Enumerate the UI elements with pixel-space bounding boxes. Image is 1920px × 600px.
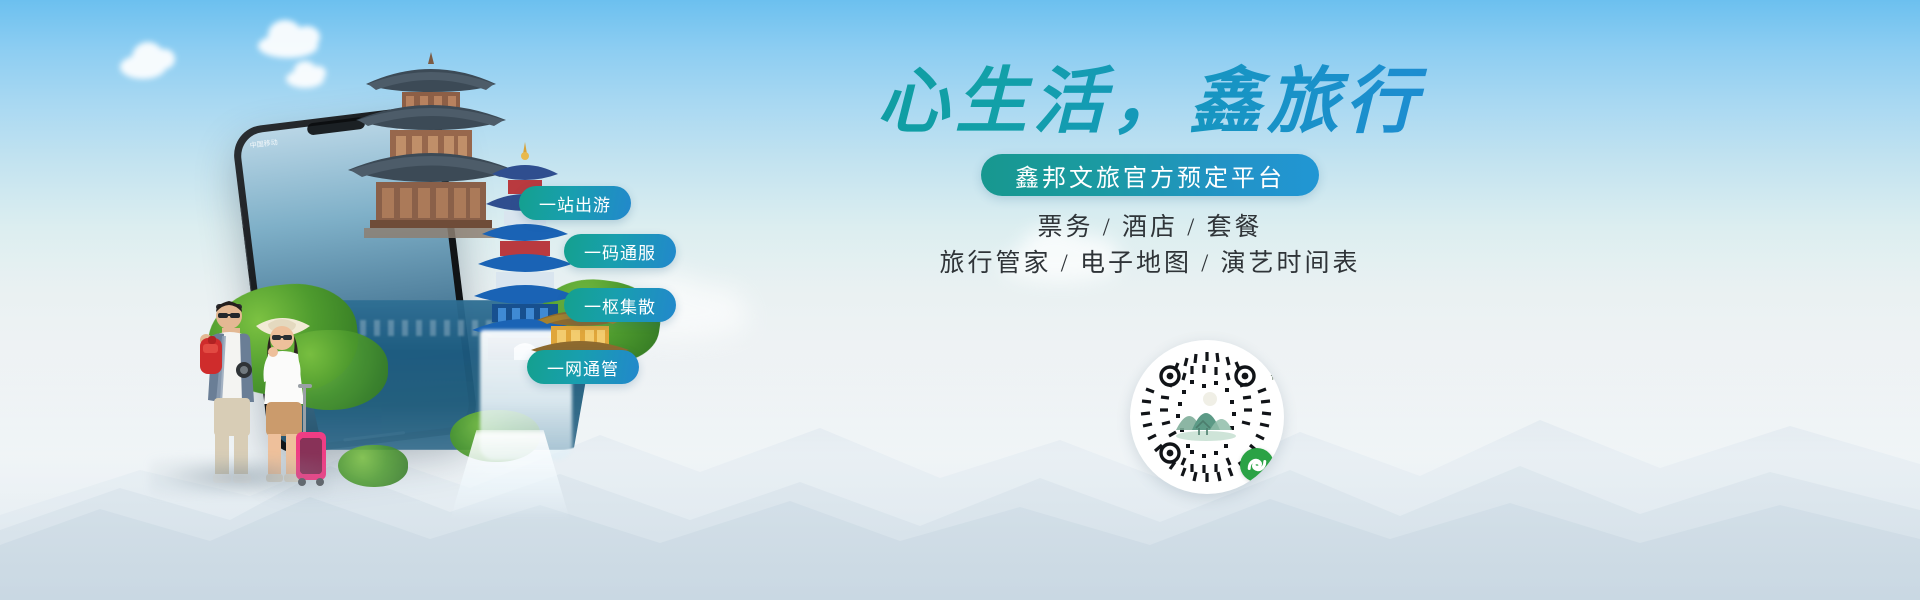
qr-disc: 鑫旅行 <box>1130 340 1284 494</box>
service-subline-2: 旅行管家 / 电子地图 / 演艺时间表 <box>800 246 1500 282</box>
official-platform-badge-label: 鑫邦文旅官方预定平台 <box>1015 158 1285 193</box>
ground-shadow <box>150 457 330 497</box>
banner-headline: 心生活，鑫旅行 <box>800 60 1500 140</box>
traveler-couple-illustration <box>170 292 340 492</box>
feature-pill-one-code-service[interactable]: 一码通服 <box>564 234 676 268</box>
travel-promo-banner: 中国移动 上午9:41 <box>0 0 1920 600</box>
feature-pill-label: 一站出游 <box>539 191 611 216</box>
wechat-miniprogram-qr[interactable]: 鑫旅行 <box>1130 340 1284 494</box>
feature-pill-one-network-management[interactable]: 一网通管 <box>527 350 639 384</box>
foliage-icon <box>338 445 408 487</box>
feature-pill-label: 一枢集散 <box>584 293 656 318</box>
male-traveler <box>200 301 254 483</box>
service-sublines: 票务 / 酒店 / 套餐 旅行管家 / 电子地图 / 演艺时间表 <box>800 210 1500 281</box>
official-platform-badge[interactable]: 鑫邦文旅官方预定平台 <box>981 154 1319 196</box>
phone-volume-up-button <box>242 236 249 270</box>
promo-copy-block: 心生活，鑫旅行 鑫邦文旅官方预定平台 票务 / 酒店 / 套餐 旅行管家 / 电… <box>800 60 1500 281</box>
official-badge-row: 鑫邦文旅官方预定平台 <box>800 154 1500 196</box>
phone-time-label: 上午9:41 <box>397 119 426 132</box>
phone-mute-switch <box>238 206 244 228</box>
waterfall-splash <box>450 430 570 520</box>
feature-pill-label: 一码通服 <box>584 239 656 264</box>
brand-logo-icon <box>1170 386 1244 448</box>
wechat-miniprogram-icon <box>1240 448 1274 482</box>
feature-pill-label: 一网通管 <box>547 355 619 380</box>
qr-brand-label: 鑫旅行 <box>1268 348 1279 381</box>
phone-carrier-label: 中国移动 <box>249 137 278 150</box>
feature-pill-one-stop-travel[interactable]: 一站出游 <box>519 186 631 220</box>
service-subline-1: 票务 / 酒店 / 套餐 <box>800 210 1500 246</box>
feature-pill-one-hub-transfer[interactable]: 一枢集散 <box>564 288 676 322</box>
